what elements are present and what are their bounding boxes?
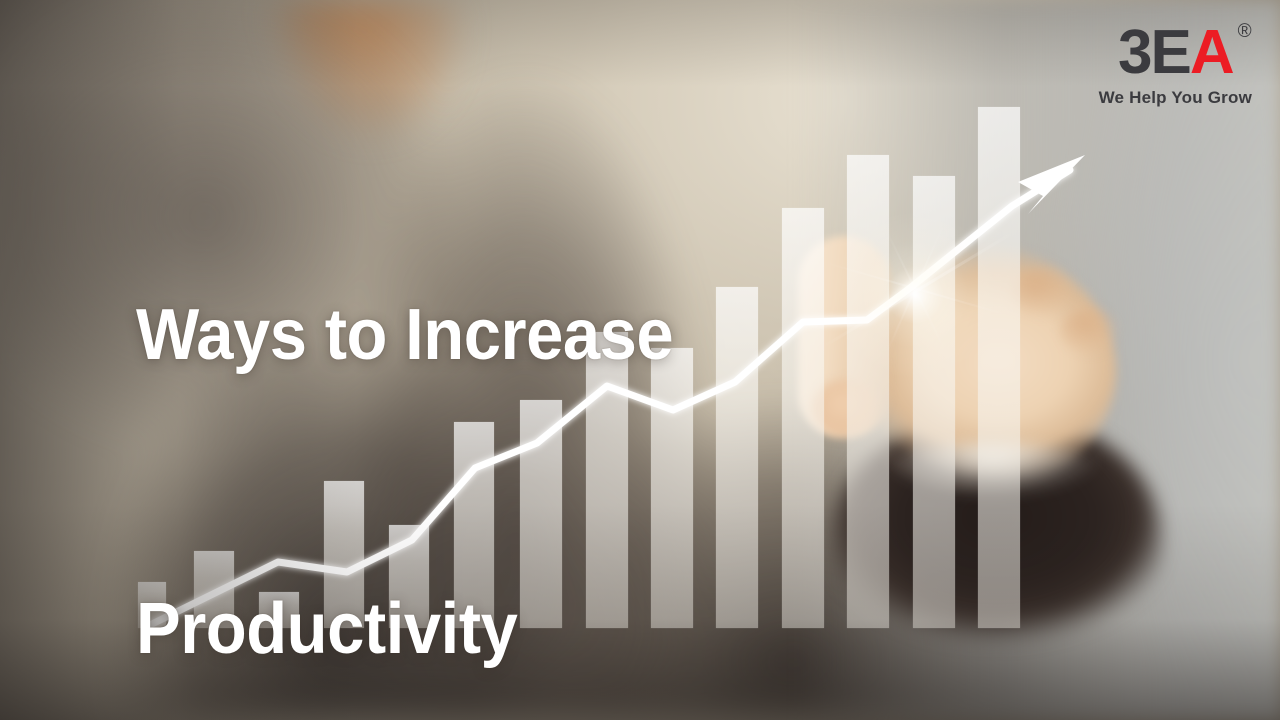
brand-logo[interactable]: 3EA ® We Help You Grow: [1099, 24, 1252, 108]
logo-tagline: We Help You Grow: [1099, 88, 1252, 108]
logo-wordmark: 3EA ®: [1118, 24, 1233, 82]
logo-char-3: 3: [1118, 18, 1150, 87]
logo-char-a: A: [1190, 18, 1233, 87]
poster-canvas: Ways to Increase Productivity at Work 3E…: [0, 0, 1280, 720]
page-title-line-1: Ways to Increase: [136, 286, 673, 384]
logo-char-e: E: [1150, 18, 1189, 87]
page-title-line-2: Productivity: [136, 580, 673, 678]
page-title: Ways to Increase Productivity at Work: [136, 90, 673, 720]
registered-trademark-icon: ®: [1238, 22, 1250, 41]
